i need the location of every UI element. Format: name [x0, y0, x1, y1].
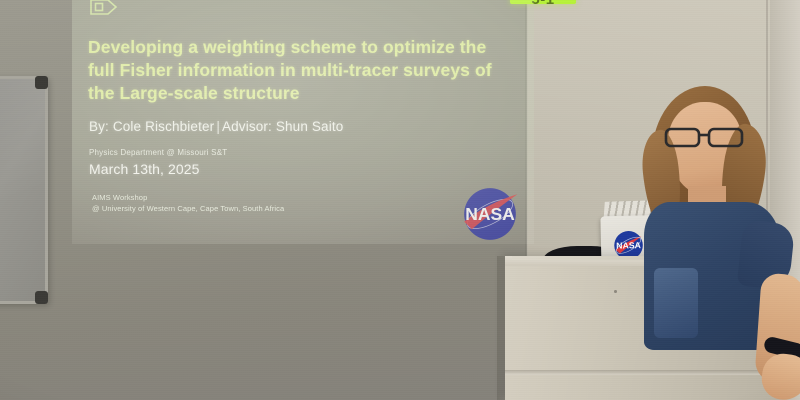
byline-advisor: Advisor: Shun Saito — [222, 119, 343, 134]
venue-line-1: AIMS Workshop — [92, 193, 284, 204]
projected-slide: 5-1 Developing a weighting scheme to opt… — [72, 0, 534, 244]
slide-venue: AIMS Workshop @ University of Western Ca… — [92, 193, 284, 215]
podium-surface-mark — [614, 290, 617, 293]
slide-byline: By: Cole Rischbieter|Advisor: Shun Saito — [89, 119, 343, 134]
glasses — [664, 126, 746, 148]
slide-title: Developing a weighting scheme to optimiz… — [88, 36, 498, 105]
nasa-logo-text: NASA — [465, 204, 515, 224]
byline-separator: | — [214, 119, 222, 134]
whiteboard-sheen — [0, 79, 45, 301]
venue-line-2: @ University of Western Cape, Cape Town,… — [92, 204, 284, 215]
whiteboard-corner-top-right — [35, 76, 48, 89]
highlight-badge: 5-1 — [510, 0, 576, 4]
highlight-badge-label: 5-1 — [531, 0, 554, 4]
presentation-photo-scene: 5-1 Developing a weighting scheme to opt… — [0, 0, 800, 400]
whiteboard — [0, 76, 48, 304]
presenter — [630, 82, 800, 400]
tshirt-graphic — [654, 268, 698, 338]
byline-author: By: Cole Rischbieter — [89, 119, 214, 134]
nasa-logo: NASA — [452, 176, 528, 252]
tag-icon — [89, 0, 119, 22]
whiteboard-corner-bottom-right — [35, 291, 48, 304]
slide-department: Physics Department @ Missouri S&T — [89, 148, 227, 157]
slide-date: March 13th, 2025 — [89, 161, 200, 177]
